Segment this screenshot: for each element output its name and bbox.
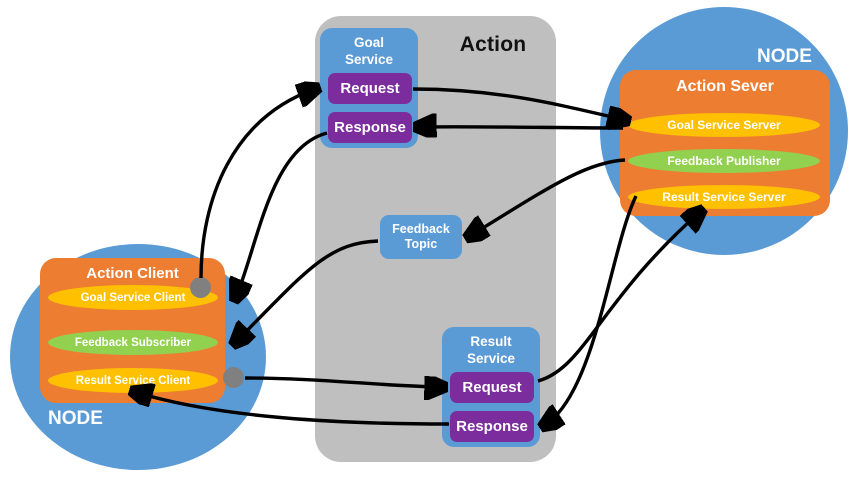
goal-service-title: Goal Service (320, 34, 418, 68)
result-service-request-box[interactable]: Request (450, 372, 534, 403)
feedback-topic-title-line2: Topic (405, 237, 437, 252)
action-server-title: Action Sever (620, 78, 830, 96)
result-service-server-ellipse[interactable]: Result Service Server (628, 185, 820, 209)
goal-service-title-line1: Goal (320, 34, 418, 51)
goal-service-response-box[interactable]: Response (328, 112, 412, 143)
wire-goal-response-to-goal-client (236, 133, 327, 297)
wire-result-server-to-result-response (545, 196, 636, 425)
goal-service-client-connector-dot (190, 277, 211, 298)
goal-service-server-ellipse[interactable]: Goal Service Server (628, 113, 820, 137)
feedback-topic-box[interactable]: Feedback Topic (380, 215, 462, 259)
feedback-publisher-ellipse[interactable]: Feedback Publisher (628, 149, 820, 173)
diagram-canvas: Action Action Client Goal Service Client… (0, 0, 854, 480)
feedback-subscriber-ellipse[interactable]: Feedback Subscriber (48, 330, 218, 355)
result-service-title-line1: Result (442, 333, 540, 350)
node-label-client: NODE (48, 408, 103, 430)
node-label-server: NODE (757, 46, 812, 68)
goal-service-request-box[interactable]: Request (328, 73, 412, 104)
goal-service-title-line2: Service (320, 51, 418, 68)
result-service-client-ellipse[interactable]: Result Service Client (48, 368, 218, 393)
wire-goal-client-to-goal-request (201, 89, 315, 278)
result-service-title: Result Service (442, 333, 540, 367)
feedback-topic-title-line1: Feedback (392, 222, 450, 237)
result-service-title-line2: Service (442, 350, 540, 367)
result-service-response-box[interactable]: Response (450, 411, 534, 442)
action-panel-title: Action (434, 33, 552, 57)
result-service-client-connector-dot (223, 367, 244, 388)
